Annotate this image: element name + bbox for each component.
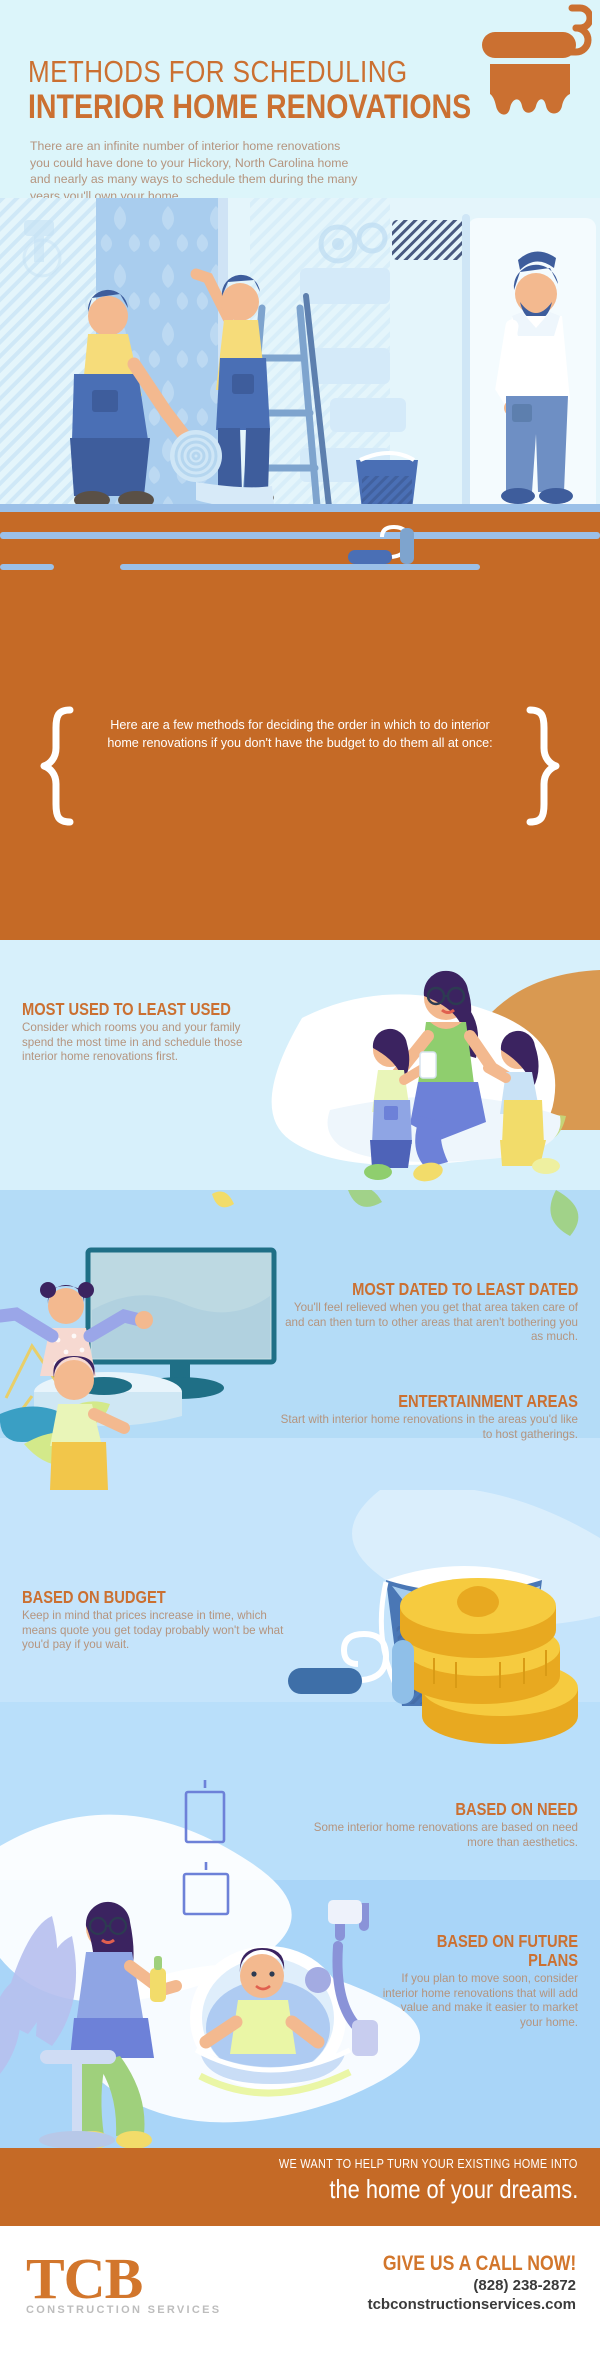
section-most-used-bg	[0, 940, 600, 1190]
method-title: BASED ON NEED	[298, 1800, 578, 1819]
method-block-future-plans: BASED ON FUTURE PLANS If you plan to mov…	[378, 1932, 578, 2030]
tcb-logo[interactable]: TCB CONSTRUCTION SERVICES	[26, 2250, 221, 2316]
method-body: Consider which rooms you and your family…	[22, 1021, 272, 1065]
method-block-budget: BASED ON BUDGET Keep in mind that prices…	[22, 1588, 302, 1653]
quote-text: Here are a few methods for deciding the …	[100, 716, 500, 752]
coin-stack	[400, 1578, 578, 1744]
family-on-couch-illustration	[0, 940, 600, 1190]
method-title: BASED ON FUTURE PLANS	[378, 1932, 578, 1970]
intro-paragraph: There are an infinite number of interior…	[30, 138, 360, 204]
renovation-scene-svg	[0, 198, 600, 628]
phone-number[interactable]: (828) 238-2872	[346, 2276, 576, 2295]
method-title: MOST DATED TO LEAST DATED	[278, 1280, 578, 1299]
closing-band: WE WANT TO HELP TURN YOUR EXISTING HOME …	[0, 2148, 600, 2226]
infographic-page: METHODS FOR SCHEDULING INTERIOR HOME REN…	[0, 0, 600, 2370]
method-block-need: BASED ON NEED Some interior home renovat…	[298, 1800, 578, 1850]
hero-illustration	[0, 198, 600, 628]
method-block-entertainment: ENTERTAINMENT AREAS Start with interior …	[278, 1392, 578, 1442]
method-body: If you plan to move soon, consider inter…	[378, 1972, 578, 2030]
method-title: MOST USED TO LEAST USED	[22, 1000, 272, 1019]
quote-text-wrap: Here are a few methods for deciding the …	[0, 716, 600, 752]
method-body: Keep in mind that prices increase in tim…	[22, 1609, 302, 1653]
contact-block: GIVE US A CALL NOW! (828) 238-2872 tcbco…	[346, 2252, 576, 2314]
method-body: Some interior home renovations are based…	[298, 1821, 578, 1850]
method-block-most-used: MOST USED TO LEAST USED Consider which r…	[22, 1000, 272, 1065]
method-title: ENTERTAINMENT AREAS	[278, 1392, 578, 1411]
method-title: BASED ON BUDGET	[22, 1588, 302, 1607]
method-body: You'll feel relieved when you get that a…	[278, 1301, 578, 1345]
quote-band: Here are a few methods for deciding the …	[0, 628, 600, 940]
closing-line1: WE WANT TO HELP TURN YOUR EXISTING HOME …	[222, 2156, 578, 2171]
closing-line2: the home of your dreams.	[282, 2174, 578, 2204]
method-block-most-dated: MOST DATED TO LEAST DATED You'll feel re…	[278, 1280, 578, 1345]
cta-text: GIVE US A CALL NOW!	[346, 2252, 576, 2276]
page-title-line2: INTERIOR HOME RENOVATIONS	[28, 88, 556, 126]
website-url[interactable]: tcbconstructionservices.com	[346, 2295, 576, 2314]
logo-wordmark: TCB	[26, 2250, 221, 2308]
footer-section: TCB CONSTRUCTION SERVICES GIVE US A CALL…	[0, 2226, 600, 2370]
page-title-line1: METHODS FOR SCHEDULING	[28, 55, 480, 89]
method-body: Start with interior home renovations in …	[278, 1413, 578, 1442]
brace-right-icon	[524, 706, 560, 826]
logo-tagline: CONSTRUCTION SERVICES	[26, 2304, 221, 2316]
